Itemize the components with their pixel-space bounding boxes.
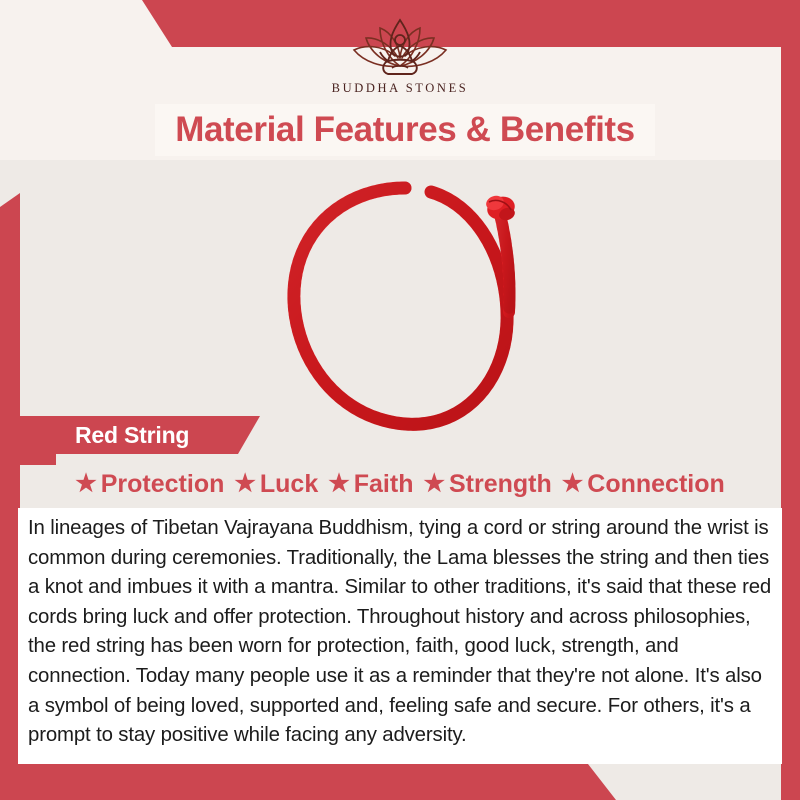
page-title: Material Features & Benefits — [155, 104, 655, 156]
decor-band-right — [781, 47, 800, 800]
star-icon: ★ — [423, 472, 445, 496]
description-block: In lineages of Tibetan Vajrayana Buddhis… — [18, 508, 782, 764]
page-title-text: Material Features & Benefits — [175, 110, 635, 150]
feature-item-luck: ★ Luck — [234, 470, 318, 499]
feature-label: Luck — [260, 470, 318, 499]
star-icon: ★ — [75, 472, 97, 496]
brand-logo: BUDDHA STONES — [0, 14, 800, 96]
brand-name: BUDDHA STONES — [332, 81, 469, 96]
feature-label: Protection — [101, 470, 225, 499]
feature-label: Faith — [354, 470, 414, 499]
feature-item-connection: ★ Connection — [562, 470, 725, 499]
feature-label: Connection — [587, 470, 725, 499]
feature-list: ★ Protection ★ Luck ★ Faith ★ Strength ★… — [20, 466, 780, 502]
star-icon: ★ — [562, 472, 584, 496]
poster-canvas: BUDDHA STONES Material Features & Benefi… — [0, 0, 800, 800]
description-text: In lineages of Tibetan Vajrayana Buddhis… — [28, 514, 772, 751]
product-image — [255, 172, 555, 442]
section-ribbon: Red String — [20, 416, 260, 454]
feature-item-faith: ★ Faith — [328, 470, 413, 499]
lotus-meditation-icon — [338, 14, 462, 78]
decor-band-left — [0, 193, 20, 523]
star-icon: ★ — [234, 472, 256, 496]
feature-item-strength: ★ Strength — [423, 470, 551, 499]
section-ribbon-label: Red String — [75, 422, 189, 449]
star-icon: ★ — [328, 472, 350, 496]
decor-band-left-lower — [0, 523, 20, 781]
feature-label: Strength — [449, 470, 552, 499]
feature-item-protection: ★ Protection — [75, 470, 224, 499]
